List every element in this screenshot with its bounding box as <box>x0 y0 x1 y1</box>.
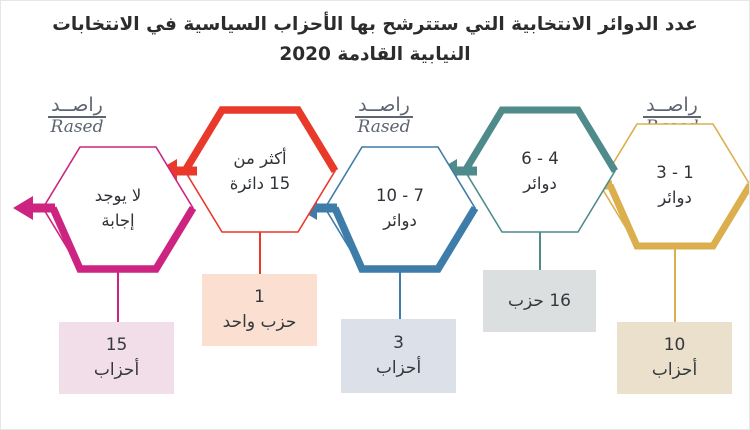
connector-stem-red <box>259 232 261 274</box>
value-box-gold-number: 10 <box>664 333 686 358</box>
hexagon-teal[interactable]: 4 - 6 دوائر <box>465 96 615 246</box>
connector-stem-teal <box>539 232 541 270</box>
page-title-line-2: النيابية القادمة 2020 <box>18 40 732 70</box>
rased-logo-1: راصــد Rased <box>18 96 136 136</box>
value-box-teal-number: 16 حزب <box>508 289 571 314</box>
value-box-blue-unit: أحزاب <box>376 356 421 381</box>
hexagon-gold[interactable]: 1 - 3 دوائر <box>600 110 750 260</box>
rased-logo-arabic: راصــد <box>18 96 136 115</box>
value-box-magenta-number: 15 <box>106 333 128 358</box>
value-box-gold-unit: أحزاب <box>652 358 697 383</box>
page-title-line-1: عدد الدوائر الانتخابية التي ستترشح بها ا… <box>18 10 732 40</box>
hexagon-red[interactable]: أكثر من 15 دائرة <box>185 96 335 246</box>
value-box-teal[interactable]: 16 حزب <box>483 270 596 332</box>
connector-stem-blue <box>399 269 401 319</box>
connector-stem-magenta <box>117 269 119 322</box>
value-box-magenta-unit: أحزاب <box>94 358 139 383</box>
hexagon-blue[interactable]: 7 - 10 دوائر <box>325 133 475 283</box>
rased-logo-arabic: راصــد <box>325 96 443 115</box>
value-box-red-unit: حزب واحد <box>223 310 297 335</box>
rased-logo-2: راصــد Rased <box>325 96 443 136</box>
connector-stem-gold <box>674 246 676 322</box>
hexagon-magenta[interactable]: لا يوجد إجابة <box>43 133 193 283</box>
value-box-gold[interactable]: 10 أحزاب <box>617 322 732 394</box>
value-box-magenta[interactable]: 15 أحزاب <box>59 322 174 394</box>
value-box-blue[interactable]: 3 أحزاب <box>341 319 456 393</box>
value-box-red[interactable]: 1 حزب واحد <box>202 274 317 346</box>
infographic-canvas: عدد الدوائر الانتخابية التي ستترشح بها ا… <box>0 0 750 430</box>
page-title: عدد الدوائر الانتخابية التي ستترشح بها ا… <box>18 10 732 70</box>
value-box-blue-number: 3 <box>393 331 404 356</box>
arrow-left-magenta-shaft <box>29 204 55 213</box>
value-box-red-number: 1 <box>254 285 265 310</box>
